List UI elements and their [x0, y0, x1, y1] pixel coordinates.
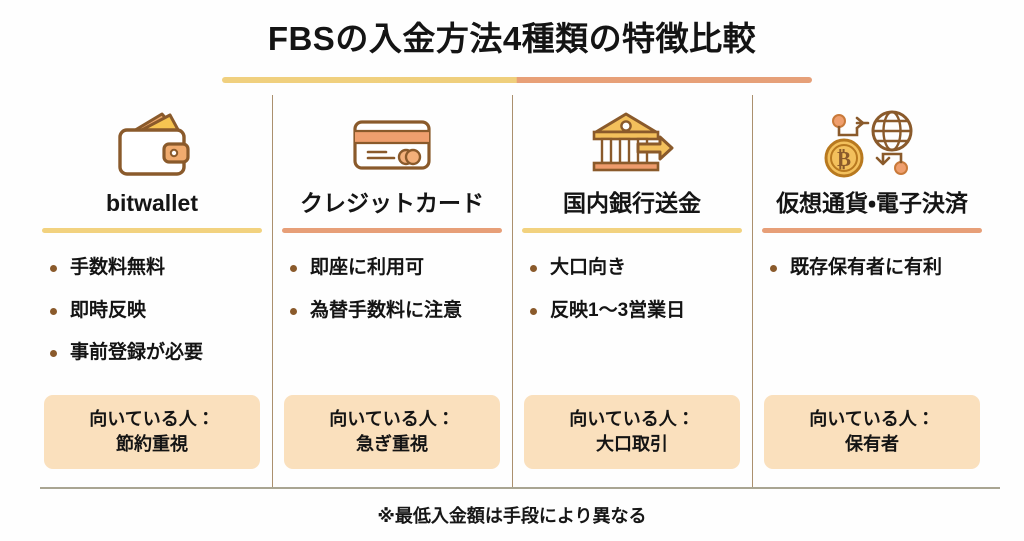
list-item: 大口向き: [528, 255, 748, 281]
column-credit-card: クレジットカード 即座に利用可 為替手数料に注意 向いている人： 急ぎ重視: [272, 95, 512, 487]
list-item: 即時反映: [48, 298, 268, 324]
list-item: 手数料無料: [48, 255, 268, 281]
fit-card-bitwallet: 向いている人： 節約重視: [44, 395, 260, 469]
credit-card-icon: [346, 99, 438, 187]
fit-card-bank-transfer: 向いている人： 大口取引: [524, 395, 740, 469]
column-header-crypto: 仮想通貨・電子決済: [776, 187, 968, 221]
list-item: 既存保有者に有利: [768, 255, 988, 281]
infographic-page: FBSの入金方法4種類の特徴比較 bitwallet 手数料無料 即時反映: [0, 0, 1024, 541]
column-bitwallet: bitwallet 手数料無料 即時反映 事前登録が必要 向いている人： 節約重…: [32, 95, 272, 487]
column-crypto: ₿ 仮想通貨・電子決済 既存保有者に有利 向いている人： 保有者: [752, 95, 992, 487]
feature-list-credit-card: 即座に利用可 為替手数料に注意: [282, 255, 508, 340]
column-header-credit-card: クレジットカード: [300, 187, 484, 221]
list-item: 反映1〜3営業日: [528, 298, 748, 324]
list-item: 即座に利用可: [288, 255, 508, 281]
column-header-bitwallet: bitwallet: [106, 187, 198, 221]
column-header-bank-transfer: 国内銀行送金: [563, 187, 701, 221]
column-rule: [762, 228, 982, 233]
svg-text:₿: ₿: [837, 147, 851, 171]
fit-label: 向いている人：: [770, 407, 974, 431]
wallet-icon: [106, 99, 198, 187]
comparison-columns: bitwallet 手数料無料 即時反映 事前登録が必要 向いている人： 節約重…: [32, 95, 992, 487]
column-bank-transfer: 国内銀行送金 大口向き 反映1〜3営業日 向いている人： 大口取引: [512, 95, 752, 487]
column-rule: [42, 228, 262, 233]
title-block: FBSの入金方法4種類の特徴比較: [0, 18, 1024, 59]
feature-list-crypto: 既存保有者に有利: [762, 255, 988, 298]
feature-list-bitwallet: 手数料無料 即時反映 事前登録が必要: [42, 255, 268, 383]
bank-transfer-icon: [584, 99, 680, 187]
fit-label: 向いている人：: [530, 407, 734, 431]
fit-label: 向いている人：: [50, 407, 254, 431]
fit-value: 節約重視: [50, 432, 254, 456]
feature-list-bank-transfer: 大口向き 反映1〜3営業日: [522, 255, 748, 340]
column-rule: [282, 228, 502, 233]
fit-value: 保有者: [770, 432, 974, 456]
footnote: ※最低入金額は手段により異なる: [0, 502, 1024, 528]
list-item: 事前登録が必要: [48, 340, 268, 366]
page-title: FBSの入金方法4種類の特徴比較: [0, 18, 1024, 59]
crypto-globe-icon: ₿: [822, 99, 922, 187]
fit-label: 向いている人：: [290, 407, 494, 431]
bottom-divider: [40, 487, 1000, 489]
fit-value: 大口取引: [530, 432, 734, 456]
list-item: 為替手数料に注意: [288, 298, 508, 324]
fit-card-credit-card: 向いている人： 急ぎ重視: [284, 395, 500, 469]
column-rule: [522, 228, 742, 233]
title-underline: [222, 77, 812, 83]
fit-card-crypto: 向いている人： 保有者: [764, 395, 980, 469]
fit-value: 急ぎ重視: [290, 432, 494, 456]
